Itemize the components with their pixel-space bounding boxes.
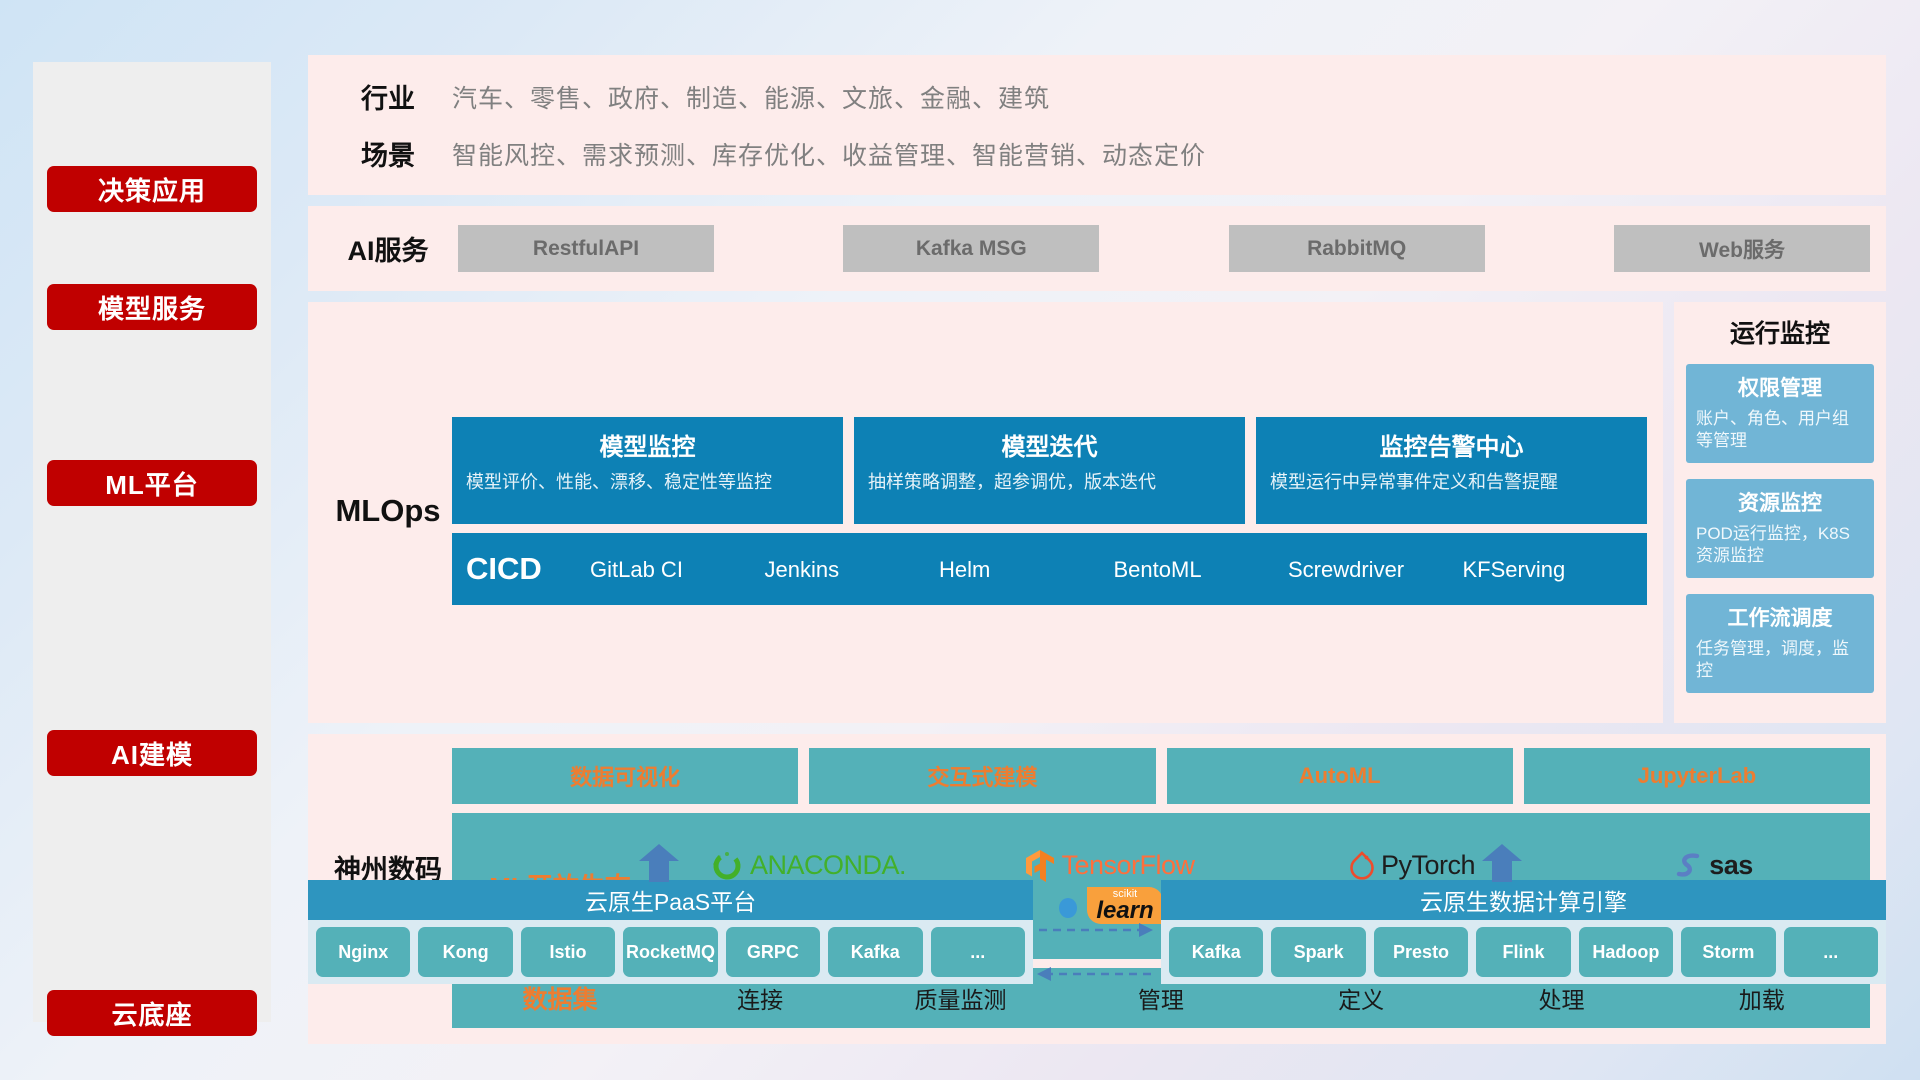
runtime-monitor-title: 运行监控 bbox=[1686, 314, 1874, 350]
ml-platform-row: MLOps 模型监控 模型评价、性能、漂移、稳定性等监控 模型迭代 抽样策略调整… bbox=[308, 302, 1886, 723]
anaconda-logo: ANACONDA. bbox=[710, 849, 906, 883]
industry-label: 行业 bbox=[324, 77, 452, 116]
service-box-restfulapi[interactable]: RestfulAPI bbox=[458, 225, 714, 272]
monitor-card-resource[interactable]: 资源监控 POD运行监控，K8S资源监控 bbox=[1686, 479, 1874, 578]
mlops-band: MLOps 模型监控 模型评价、性能、漂移、稳定性等监控 模型迭代 抽样策略调整… bbox=[308, 302, 1663, 723]
tensorflow-logo: TensorFlow bbox=[1025, 849, 1194, 883]
engine-chip-spark[interactable]: Spark bbox=[1271, 927, 1365, 977]
card-title: 工作流调度 bbox=[1696, 602, 1864, 632]
card-title: 资源监控 bbox=[1696, 487, 1864, 517]
sas-logo: sas bbox=[1675, 850, 1753, 881]
sidebar-item-label: AI建模 bbox=[111, 735, 193, 772]
engine-chip-presto[interactable]: Presto bbox=[1374, 927, 1468, 977]
engine-chip-storm[interactable]: Storm bbox=[1681, 927, 1775, 977]
pytorch-wordmark: PyTorch bbox=[1381, 850, 1475, 881]
anaconda-ring-icon bbox=[710, 849, 744, 883]
industry-values: 汽车、零售、政府、制造、能源、文旅、金融、建筑 bbox=[452, 79, 1050, 115]
mlops-card-model-iteration[interactable]: 模型迭代 抽样策略调整，超参调优，版本迭代 bbox=[854, 417, 1245, 524]
tool-automl[interactable]: AutoML bbox=[1167, 748, 1513, 804]
paas-chip-kafka[interactable]: Kafka bbox=[828, 927, 922, 977]
tool-interactive-modeling[interactable]: 交互式建模 bbox=[809, 748, 1155, 804]
paas-chip-kong[interactable]: Kong bbox=[418, 927, 512, 977]
sidebar-item-ai-modeling[interactable]: AI建模 bbox=[47, 730, 257, 776]
paas-up-arrow-icon bbox=[638, 844, 680, 882]
mlops-card-alert-center[interactable]: 监控告警中心 模型运行中异常事件定义和告警提醒 bbox=[1256, 417, 1647, 524]
scenario-values: 智能风控、需求预测、库存优化、收益管理、智能营销、动态定价 bbox=[452, 136, 1206, 172]
sidebar-item-label: 决策应用 bbox=[98, 171, 206, 208]
paas-group: 云原生PaaS平台 Nginx Kong Istio RocketMQ GRPC… bbox=[308, 880, 1033, 984]
sidebar-item-label: ML平台 bbox=[105, 465, 199, 502]
cicd-bar: CICD GitLab CI Jenkins Helm BentoML Scre… bbox=[452, 533, 1647, 605]
sidebar-item-cloud-base[interactable]: 云底座 bbox=[47, 990, 257, 1036]
paas-chip-rocketmq[interactable]: RocketMQ bbox=[623, 927, 717, 977]
service-box-rabbitmq[interactable]: RabbitMQ bbox=[1229, 225, 1485, 272]
tool-jupyterlab[interactable]: JupyterLab bbox=[1524, 748, 1870, 804]
engine-up-arrow-icon bbox=[1481, 844, 1523, 882]
sidebar-item-decision[interactable]: 决策应用 bbox=[47, 166, 257, 212]
paas-chip-nginx[interactable]: Nginx bbox=[316, 927, 410, 977]
layer-rail: 决策应用 模型服务 ML平台 AI建模 云底座 bbox=[33, 62, 271, 1022]
sas-wordmark: sas bbox=[1709, 850, 1753, 881]
ai-service-label: AI服务 bbox=[324, 229, 452, 268]
engine-title: 云原生数据计算引擎 bbox=[1161, 880, 1886, 920]
sas-swirl-icon bbox=[1675, 851, 1703, 881]
monitor-card-permission[interactable]: 权限管理 账户、角色、用户组等管理 bbox=[1686, 364, 1874, 463]
cicd-item-jenkins[interactable]: Jenkins bbox=[761, 558, 936, 581]
card-desc: 抽样策略调整，超参调优，版本迭代 bbox=[868, 470, 1231, 494]
cicd-item-helm[interactable]: Helm bbox=[935, 558, 1110, 581]
sidebar-item-ml-platform[interactable]: ML平台 bbox=[47, 460, 257, 506]
pytorch-flame-icon bbox=[1349, 850, 1375, 882]
mlops-card-model-monitoring[interactable]: 模型监控 模型评价、性能、漂移、稳定性等监控 bbox=[452, 417, 843, 524]
runtime-monitor-column: 运行监控 权限管理 账户、角色、用户组等管理 资源监控 POD运行监控，K8S资… bbox=[1674, 302, 1886, 723]
service-box-kafka-msg[interactable]: Kafka MSG bbox=[843, 225, 1099, 272]
paas-chip-more[interactable]: ... bbox=[931, 927, 1025, 977]
tool-data-visualization[interactable]: 数据可视化 bbox=[452, 748, 798, 804]
pytorch-logo: PyTorch bbox=[1349, 850, 1475, 882]
card-desc: 模型评价、性能、漂移、稳定性等监控 bbox=[466, 470, 829, 494]
engine-chip-flink[interactable]: Flink bbox=[1476, 927, 1570, 977]
paas-chip-istio[interactable]: Istio bbox=[521, 927, 615, 977]
cicd-item-kfserving[interactable]: KFServing bbox=[1459, 558, 1634, 581]
monitor-card-workflow[interactable]: 工作流调度 任务管理，调度，监控 bbox=[1686, 594, 1874, 693]
sidebar-item-model-service[interactable]: 模型服务 bbox=[47, 284, 257, 330]
card-title: 模型迭代 bbox=[868, 427, 1231, 462]
engine-chip-kafka[interactable]: Kafka bbox=[1169, 927, 1263, 977]
paas-title: 云原生PaaS平台 bbox=[308, 880, 1033, 920]
scenario-label: 场景 bbox=[324, 134, 452, 173]
data-engine-group: 云原生数据计算引擎 Kafka Spark Presto Flink Hadoo… bbox=[1161, 880, 1886, 984]
industry-row: 行业 汽车、零售、政府、制造、能源、文旅、金融、建筑 bbox=[324, 77, 1870, 116]
scenario-row: 场景 智能风控、需求预测、库存优化、收益管理、智能营销、动态定价 bbox=[324, 134, 1870, 173]
bidirectional-connector-icon bbox=[1035, 912, 1155, 992]
engine-chip-hadoop[interactable]: Hadoop bbox=[1579, 927, 1673, 977]
paas-chip-grpc[interactable]: GRPC bbox=[726, 927, 820, 977]
sidebar-item-label: 模型服务 bbox=[98, 289, 206, 326]
sidebar-item-label: 云底座 bbox=[111, 995, 192, 1032]
card-desc: 任务管理，调度，监控 bbox=[1696, 638, 1864, 683]
card-title: 权限管理 bbox=[1696, 372, 1864, 402]
card-title: 监控告警中心 bbox=[1270, 427, 1633, 462]
tensorflow-mark-icon bbox=[1025, 849, 1055, 883]
card-desc: POD运行监控，K8S资源监控 bbox=[1696, 523, 1864, 568]
engine-chip-more[interactable]: ... bbox=[1784, 927, 1878, 977]
card-desc: 账户、角色、用户组等管理 bbox=[1696, 408, 1864, 453]
mlops-label: MLOps bbox=[324, 493, 452, 529]
ai-service-band: AI服务 RestfulAPI Kafka MSG RabbitMQ Web服务 bbox=[308, 206, 1886, 291]
card-desc: 模型运行中异常事件定义和告警提醒 bbox=[1270, 470, 1633, 494]
card-title: 模型监控 bbox=[466, 427, 829, 462]
anaconda-wordmark: ANACONDA. bbox=[750, 850, 906, 881]
service-box-web[interactable]: Web服务 bbox=[1614, 225, 1870, 272]
tensorflow-wordmark: TensorFlow bbox=[1061, 850, 1194, 881]
cicd-item-bentoml[interactable]: BentoML bbox=[1110, 558, 1285, 581]
cicd-item-screwdriver[interactable]: Screwdriver bbox=[1284, 558, 1459, 581]
decision-application-band: 行业 汽车、零售、政府、制造、能源、文旅、金融、建筑 场景 智能风控、需求预测、… bbox=[308, 55, 1886, 195]
cicd-item-gitlab-ci[interactable]: GitLab CI bbox=[586, 558, 761, 581]
cicd-label: CICD bbox=[466, 551, 586, 587]
